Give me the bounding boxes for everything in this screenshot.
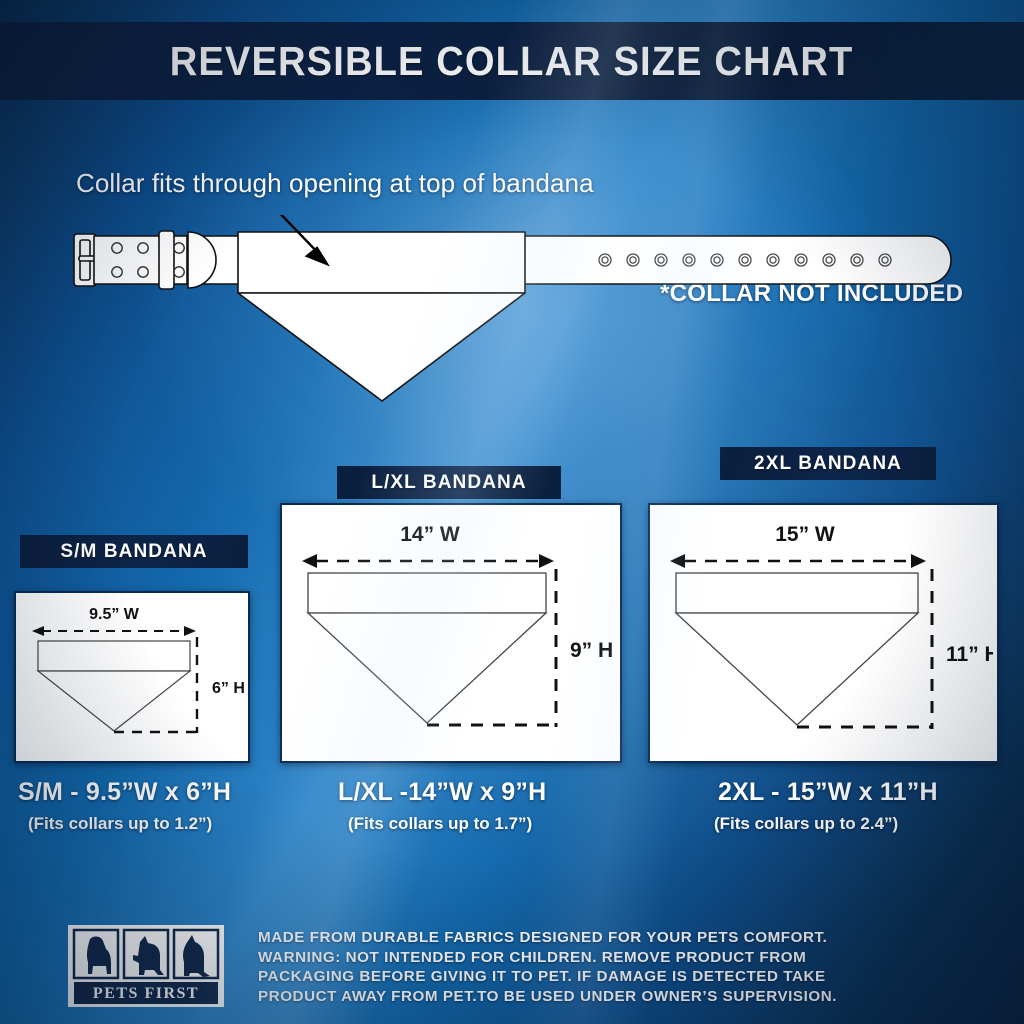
caption-lxl: L/XL -14”W x 9”H	[338, 778, 546, 807]
disclaimer-line-2: WARNING: NOT INTENDED FOR CHILDREN. REMO…	[258, 948, 958, 968]
size-chart-infographic: REVERSIBLE COLLAR SIZE CHART Collar fits…	[0, 0, 1024, 1024]
disclaimer-line-1: MADE FROM DURABLE FABRICS DESIGNED FOR Y…	[258, 928, 958, 948]
sm-height-label: 6” H	[212, 680, 244, 697]
twoxl-height-label: 11” H	[946, 643, 993, 666]
logo-text: PETS FIRST	[93, 985, 199, 1002]
collar-bandana-illustration	[55, 215, 970, 405]
panel-sm: 9.5” W 6” H	[14, 591, 250, 763]
disclaimer-line-4: PRODUCT AWAY FROM PET.TO BE USED UNDER O…	[258, 987, 958, 1007]
footer-disclaimer: MADE FROM DURABLE FABRICS DESIGNED FOR Y…	[258, 928, 958, 1006]
callout-text: Collar fits through opening at top of ba…	[76, 168, 594, 199]
sm-width-label: 9.5” W	[89, 606, 140, 623]
fits-sm: (Fits collars up to 1.2”)	[28, 814, 212, 834]
caption-2xl: 2XL - 15”W x 11”H	[718, 778, 938, 807]
caption-sm: S/M - 9.5”W x 6”H	[18, 778, 231, 807]
badge-sm: S/M BANDANA	[20, 535, 248, 568]
fits-2xl: (Fits collars up to 2.4”)	[714, 814, 898, 834]
panel-2xl: 15” W 11” H	[648, 503, 999, 763]
twoxl-width-label: 15” W	[775, 523, 835, 546]
disclaimer-line-3: PACKAGING BEFORE GIVING IT TO PET. IF DA…	[258, 967, 958, 987]
header-band: REVERSIBLE COLLAR SIZE CHART	[0, 22, 1024, 100]
lxl-height-label: 9” H	[570, 639, 613, 662]
pets-first-logo: PETS FIRST	[68, 925, 224, 1007]
page-title: REVERSIBLE COLLAR SIZE CHART	[170, 38, 854, 85]
badge-lxl: L/XL BANDANA	[337, 466, 561, 499]
lxl-width-label: 14” W	[400, 523, 460, 546]
panel-lxl: 14” W 9” H	[280, 503, 622, 763]
fits-lxl: (Fits collars up to 1.7”)	[348, 814, 532, 834]
badge-2xl: 2XL BANDANA	[720, 447, 936, 480]
